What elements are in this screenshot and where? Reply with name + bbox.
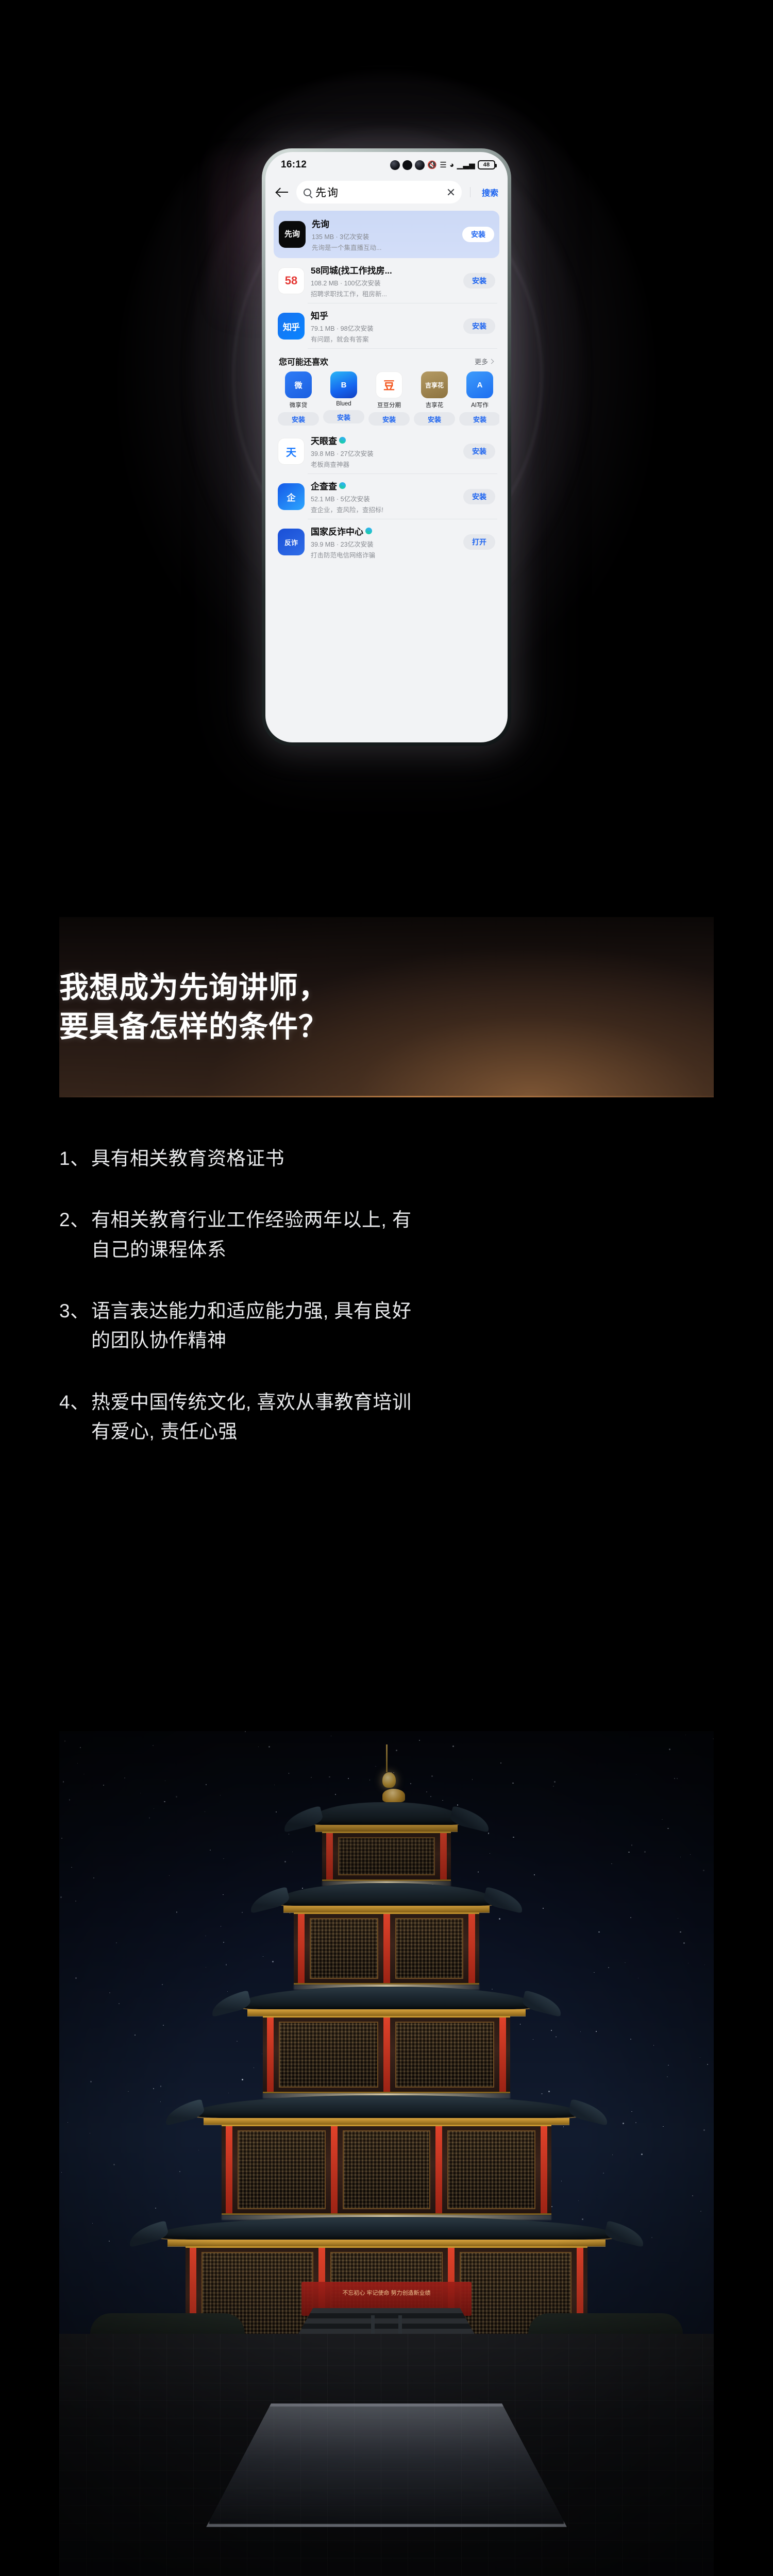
pagoda-roof bbox=[309, 1802, 464, 1825]
star bbox=[153, 1745, 154, 1746]
pagoda-building bbox=[155, 1744, 618, 2354]
star bbox=[113, 2164, 115, 2165]
star bbox=[680, 1857, 681, 1857]
pillar bbox=[440, 1833, 447, 1879]
verified-badge-icon bbox=[339, 482, 346, 489]
list-item-text: 有相关教育行业工作经验两年以上, 有 自己的课程体系 bbox=[91, 1205, 693, 1264]
star bbox=[77, 1763, 78, 1764]
star bbox=[669, 1749, 670, 1750]
recommend-item-blued[interactable]: B Blued 安装 bbox=[323, 371, 364, 426]
pagoda-eave bbox=[247, 2009, 526, 2016]
star bbox=[644, 1851, 646, 1853]
spire-bell bbox=[382, 1789, 405, 1802]
spire-orb bbox=[382, 1772, 396, 1788]
recommend-item-doudou[interactable]: 豆 豆豆分期 安装 bbox=[368, 371, 410, 426]
star bbox=[109, 1992, 110, 1993]
recommend-title: 您可能还喜欢 bbox=[279, 355, 328, 367]
page-title: 我想成为先询讲师， 要具备怎样的条件？ bbox=[59, 969, 678, 1047]
chevron-right-icon bbox=[489, 359, 494, 364]
star bbox=[700, 2057, 700, 2058]
camera-dot-icon-2 bbox=[402, 160, 412, 170]
pagoda-tier-4 bbox=[191, 2095, 582, 2220]
star bbox=[631, 1844, 632, 1845]
app-size-installs: 39.8 MB · 27亿次安装 bbox=[311, 448, 457, 458]
pagoda-body bbox=[322, 1832, 451, 1881]
app-meta: 企查查 52.1 MB · 5亿次安装 查企业，查风险，查招标! bbox=[311, 479, 457, 514]
spire-rod bbox=[386, 1744, 388, 1772]
app-result-row-zhihu[interactable]: 知乎 知乎 79.1 MB · 98亿次安装 有问题，就会有答案 安装 bbox=[274, 303, 499, 349]
star bbox=[92, 2223, 93, 2224]
signal-icon: ▁▃▅ bbox=[457, 161, 475, 169]
star bbox=[154, 1808, 154, 1809]
app-description: 有问题，就会有答案 bbox=[311, 334, 457, 344]
pagoda-roof bbox=[191, 2095, 582, 2118]
star bbox=[90, 2081, 92, 2082]
pagoda-eave bbox=[283, 1906, 490, 1912]
app-icon-label: 知乎 bbox=[283, 320, 299, 333]
list-item: 4、 热爱中国传统文化, 喜欢从事教育培训 有爱心, 责任心强 bbox=[59, 1387, 693, 1447]
install-button[interactable]: 安装 bbox=[368, 412, 410, 426]
status-icons: 🔇 ☰ ◕ ▁▃▅ 48 bbox=[390, 160, 495, 170]
star bbox=[83, 1774, 84, 1774]
pillar bbox=[331, 2126, 338, 2213]
star bbox=[149, 1817, 150, 1819]
star bbox=[678, 1918, 678, 1919]
search-input-value: 先询 bbox=[315, 184, 442, 200]
app-meta: 国家反诈中心 39.9 MB · 23亿次安装 打击防范电信网络诈骗 bbox=[311, 524, 457, 560]
app-icon-doudoufenqi: 豆 bbox=[376, 371, 402, 398]
back-arrow-icon[interactable] bbox=[275, 184, 290, 200]
app-description: 先询是一个集直播互动... bbox=[312, 242, 456, 252]
star bbox=[128, 2091, 129, 2092]
star bbox=[638, 1978, 638, 1978]
close-icon[interactable] bbox=[446, 188, 456, 197]
app-size-installs: 79.1 MB · 98亿次安装 bbox=[311, 323, 457, 333]
star bbox=[119, 2003, 120, 2004]
star bbox=[245, 1731, 246, 1732]
recommend-item-jixianghua[interactable]: 吉享花 吉享花 安装 bbox=[414, 371, 455, 426]
app-size-installs: 135 MB · 3亿次安装 bbox=[312, 231, 456, 241]
app-result-row-58[interactable]: 58 58同城(找工作找房... 108.2 MB · 100亿次安装 招聘求职… bbox=[274, 258, 499, 303]
star bbox=[635, 2122, 636, 2123]
pagoda-eave bbox=[204, 2118, 569, 2125]
app-description: 查企业，查风险，查招标! bbox=[311, 504, 457, 514]
pagoda-roof bbox=[276, 1883, 497, 1906]
app-icon-label: 58 bbox=[285, 274, 297, 287]
list-item-text: 具有相关教育资格证书 bbox=[91, 1144, 693, 1173]
app-title: 天眼查 bbox=[311, 434, 457, 447]
list-item-number: 3、 bbox=[59, 1296, 91, 1326]
battery-icon: 48 bbox=[478, 160, 495, 170]
app-result-row-fanzha[interactable]: 反诈 国家反诈中心 39.9 MB · 23亿次安装 打击防范电信网络诈骗 打开 bbox=[274, 519, 499, 565]
list-item: 1、 具有相关教育资格证书 bbox=[59, 1144, 693, 1173]
divider bbox=[470, 187, 470, 197]
star bbox=[75, 1901, 76, 1902]
pagoda-body bbox=[294, 1912, 479, 1985]
lattice-door bbox=[343, 2130, 431, 2209]
list-item-number: 1、 bbox=[59, 1144, 91, 1173]
recommend-item-ai[interactable]: A AI写作 安装 bbox=[459, 371, 499, 426]
star bbox=[685, 1735, 686, 1735]
star bbox=[419, 1740, 420, 1741]
recommend-item-label: 豆豆分期 bbox=[368, 401, 410, 409]
app-icon-label: 天 bbox=[286, 444, 296, 459]
star bbox=[690, 1854, 691, 1855]
wifi-icon: ◕ bbox=[449, 161, 454, 169]
app-title: 知乎 bbox=[311, 309, 457, 321]
recommend-item-label: AI写作 bbox=[459, 401, 499, 409]
pagoda-photo: 不忘初心 牢记使命 努力创造新业绩 bbox=[59, 1731, 714, 2576]
app-icon-qichacha: 企 bbox=[278, 483, 305, 510]
recommend-more-label: 更多 bbox=[475, 357, 488, 366]
search-bar-row: 先询 搜索 bbox=[265, 178, 508, 211]
requirements-section: 我想成为先询讲师， 要具备怎样的条件？ 1、 具有相关教育资格证书 2、 有相关… bbox=[0, 814, 773, 1731]
star bbox=[153, 2088, 154, 2089]
pagoda-eave bbox=[315, 1825, 458, 1832]
star bbox=[60, 1896, 62, 1898]
pillar bbox=[468, 1914, 475, 1983]
search-input[interactable]: 先询 bbox=[296, 181, 462, 204]
star bbox=[662, 1819, 663, 1820]
pillar bbox=[383, 2018, 390, 2092]
app-icon-label: B bbox=[341, 381, 347, 389]
star bbox=[116, 1942, 117, 1943]
app-icon-tianyancha: 天 bbox=[278, 438, 305, 465]
mute-icon: 🔇 bbox=[427, 161, 437, 169]
camera-dot-icon bbox=[390, 160, 400, 170]
star bbox=[61, 2172, 62, 2173]
star bbox=[707, 2064, 708, 2065]
verified-badge-icon bbox=[365, 528, 372, 534]
list-item-number: 4、 bbox=[59, 1387, 91, 1417]
pagoda-body bbox=[222, 2125, 551, 2215]
app-result-row-qichacha[interactable]: 企 企查查 52.1 MB · 5亿次安装 查企业，查风险，查招标! 安装 bbox=[274, 474, 499, 519]
star bbox=[625, 1962, 626, 1963]
install-button[interactable]: 安装 bbox=[323, 410, 364, 423]
star bbox=[68, 2122, 68, 2123]
star bbox=[692, 2195, 693, 2196]
pillar bbox=[541, 2126, 547, 2213]
app-icon-guojiafanzha: 反诈 bbox=[278, 529, 305, 555]
star bbox=[636, 1774, 636, 1775]
pillar bbox=[298, 1914, 305, 1983]
promo-page: 16:12 🔇 ☰ ◕ ▁▃▅ 48 bbox=[0, 0, 773, 2576]
status-time: 16:12 bbox=[281, 159, 307, 171]
star bbox=[63, 1781, 64, 1783]
app-title-text: 天眼查 bbox=[311, 434, 337, 447]
star bbox=[674, 1778, 675, 1779]
pagoda-roof bbox=[155, 2217, 618, 2240]
install-button[interactable]: 安装 bbox=[278, 412, 319, 426]
app-icon-label: 豆 bbox=[383, 377, 395, 393]
search-button[interactable]: 搜索 bbox=[477, 186, 498, 198]
star bbox=[71, 1867, 72, 1868]
search-icon bbox=[304, 189, 311, 196]
star bbox=[103, 1785, 104, 1786]
star bbox=[663, 2126, 664, 2127]
star bbox=[668, 2065, 668, 2065]
star bbox=[630, 2039, 631, 2040]
star bbox=[641, 2154, 643, 2155]
star bbox=[628, 1852, 629, 1853]
app-meta: 58同城(找工作找房... 108.2 MB · 100亿次安装 招聘求职找工作… bbox=[311, 263, 457, 298]
app-icon-58: 58 bbox=[278, 267, 305, 294]
list-item-number: 2、 bbox=[59, 1205, 91, 1234]
lattice-door bbox=[395, 1918, 464, 1979]
install-button[interactable]: 安装 bbox=[463, 444, 495, 459]
battery-level: 48 bbox=[483, 162, 490, 168]
star bbox=[713, 1738, 713, 1739]
star bbox=[667, 2076, 668, 2077]
list-item-text: 热爱中国传统文化, 喜欢从事教育培训 有爱心, 责任心强 bbox=[91, 1387, 693, 1447]
pillar bbox=[326, 1833, 333, 1879]
lattice-door bbox=[447, 2130, 535, 2209]
hero-phone-section: 16:12 🔇 ☰ ◕ ▁▃▅ 48 bbox=[0, 0, 773, 814]
pillar bbox=[267, 2018, 274, 2092]
app-size-installs: 108.2 MB · 100亿次安装 bbox=[311, 278, 457, 287]
star bbox=[630, 1917, 631, 1918]
app-size-installs: 52.1 MB · 5亿次安装 bbox=[311, 494, 457, 503]
star bbox=[683, 1942, 685, 1944]
lattice-door bbox=[310, 1918, 378, 1979]
star bbox=[703, 2129, 705, 2131]
recommend-item-wxd[interactable]: 微 微享贷 安装 bbox=[278, 371, 319, 426]
pagoda-roof bbox=[237, 1987, 536, 2009]
star bbox=[124, 1777, 125, 1778]
recommend-header: 您可能还喜欢 更多 bbox=[274, 349, 499, 370]
app-description: 打击防范电信网络诈骗 bbox=[311, 550, 457, 560]
star bbox=[61, 1838, 62, 1839]
install-button[interactable]: 安装 bbox=[462, 227, 494, 242]
star bbox=[623, 2123, 624, 2124]
install-button[interactable]: 安装 bbox=[459, 412, 499, 426]
install-button[interactable]: 安装 bbox=[463, 318, 495, 334]
app-meta: 知乎 79.1 MB · 98亿次安装 有问题，就会有答案 bbox=[311, 309, 457, 344]
star bbox=[331, 1736, 332, 1737]
install-button[interactable]: 安装 bbox=[414, 412, 455, 426]
star bbox=[677, 1778, 678, 1779]
app-size-installs: 39.9 MB · 23亿次安装 bbox=[311, 539, 457, 549]
recommend-item-label: Blued bbox=[323, 401, 364, 407]
lattice-door bbox=[395, 2022, 495, 2088]
app-meta: 先询 135 MB · 3亿次安装 先询是一个集直播互动... bbox=[312, 217, 456, 252]
app-title-text: 国家反诈中心 bbox=[311, 524, 363, 537]
star bbox=[704, 1964, 705, 1965]
recommend-item-label: 吉享花 bbox=[414, 401, 455, 409]
app-title: 企查查 bbox=[311, 479, 457, 492]
pillar bbox=[226, 2126, 232, 2213]
lattice-door bbox=[338, 1837, 435, 1875]
camera-dot-icon-3 bbox=[415, 160, 425, 170]
app-icon-label: 反诈 bbox=[284, 537, 298, 547]
star bbox=[64, 1740, 65, 1741]
app-icon-xunxun: 先询 bbox=[279, 221, 306, 248]
star bbox=[109, 2241, 110, 2242]
star bbox=[700, 2211, 701, 2212]
star bbox=[69, 1799, 70, 1800]
star bbox=[140, 1793, 141, 1793]
app-icon-label: 微 bbox=[294, 380, 302, 391]
app-title: 58同城(找工作找房... bbox=[311, 263, 457, 276]
app-icon-weixiangdai: 微 bbox=[285, 371, 312, 398]
star bbox=[93, 1877, 94, 1878]
app-icon-aixiezuo: A bbox=[466, 371, 493, 398]
pagoda-tier-1 bbox=[309, 1802, 464, 1886]
pillar bbox=[435, 2126, 442, 2213]
pillar bbox=[499, 2018, 506, 2092]
requirements-list: 1、 具有相关教育资格证书 2、 有相关教育行业工作经验两年以上, 有 自己的课… bbox=[59, 1144, 693, 1478]
app-icon-label: 企 bbox=[287, 490, 296, 503]
star bbox=[90, 2133, 90, 2133]
list-item-text: 语言表达能力和适应能力强, 具有良好 的团队协作精神 bbox=[91, 1296, 693, 1355]
recommend-row: 微 微享贷 安装 B Blued 安装 bbox=[274, 370, 499, 429]
app-icon-blued: B bbox=[330, 371, 357, 398]
lattice-door bbox=[238, 2130, 326, 2209]
phone-mockup: 16:12 🔇 ☰ ◕ ▁▃▅ 48 bbox=[262, 148, 511, 746]
verified-badge-icon bbox=[339, 437, 346, 444]
app-description: 老板商查神器 bbox=[311, 459, 457, 469]
list-item: 2、 有相关教育行业工作经验两年以上, 有 自己的课程体系 bbox=[59, 1205, 693, 1264]
lattice-door bbox=[279, 2022, 378, 2088]
pagoda-tier-2 bbox=[276, 1883, 497, 1990]
app-title: 先询 bbox=[312, 217, 456, 230]
star bbox=[703, 1870, 704, 1871]
app-title: 国家反诈中心 bbox=[311, 524, 457, 537]
app-result-row-xunxun[interactable]: 先询 先询 135 MB · 3亿次安装 先询是一个集直播互动... 安装 bbox=[274, 211, 499, 258]
star bbox=[135, 2035, 136, 2036]
pagoda-spire bbox=[382, 1744, 391, 1802]
list-item: 3、 语言表达能力和适应能力强, 具有良好 的团队协作精神 bbox=[59, 1296, 693, 1355]
star bbox=[651, 2237, 652, 2238]
install-button[interactable]: 安装 bbox=[463, 489, 495, 504]
star bbox=[80, 1747, 81, 1749]
pagoda-eave bbox=[167, 2240, 606, 2246]
status-bar: 16:12 🔇 ☰ ◕ ▁▃▅ 48 bbox=[265, 152, 508, 178]
open-button[interactable]: 打开 bbox=[463, 534, 495, 550]
phone-screen: 16:12 🔇 ☰ ◕ ▁▃▅ 48 bbox=[265, 152, 508, 742]
app-icon-zhihu: 知乎 bbox=[278, 313, 305, 340]
app-result-row-tianyancha[interactable]: 天 天眼查 39.8 MB · 27亿次安装 老板商查神器 安装 bbox=[274, 429, 499, 474]
install-button[interactable]: 安装 bbox=[463, 273, 495, 289]
app-meta: 天眼查 39.8 MB · 27亿次安装 老板商查神器 bbox=[311, 434, 457, 469]
vibrate-icon: ☰ bbox=[440, 161, 447, 169]
star bbox=[667, 1828, 668, 1829]
recommend-item-label: 微享贷 bbox=[278, 401, 319, 409]
star bbox=[653, 2045, 654, 2045]
star bbox=[680, 1931, 681, 1933]
search-results-list: 先询 先询 135 MB · 3亿次安装 先询是一个集直播互动... 安装 58 bbox=[265, 211, 508, 565]
app-title-text: 企查查 bbox=[311, 479, 337, 492]
app-icon-jixianghua: 吉享花 bbox=[421, 371, 448, 398]
app-icon-label: 先询 bbox=[284, 231, 300, 239]
pillar bbox=[383, 1914, 390, 1983]
star bbox=[631, 2111, 632, 2112]
star bbox=[688, 1963, 688, 1963]
pagoda-body bbox=[263, 2016, 510, 2093]
star bbox=[75, 1977, 77, 1979]
pagoda-tier-3 bbox=[237, 1987, 536, 2098]
recommend-more-link[interactable]: 更多 bbox=[475, 357, 493, 366]
app-icon-label: A bbox=[477, 381, 483, 389]
app-description: 招聘求职找工作，租房新... bbox=[311, 289, 457, 298]
app-icon-label: 吉享花 bbox=[425, 381, 444, 389]
